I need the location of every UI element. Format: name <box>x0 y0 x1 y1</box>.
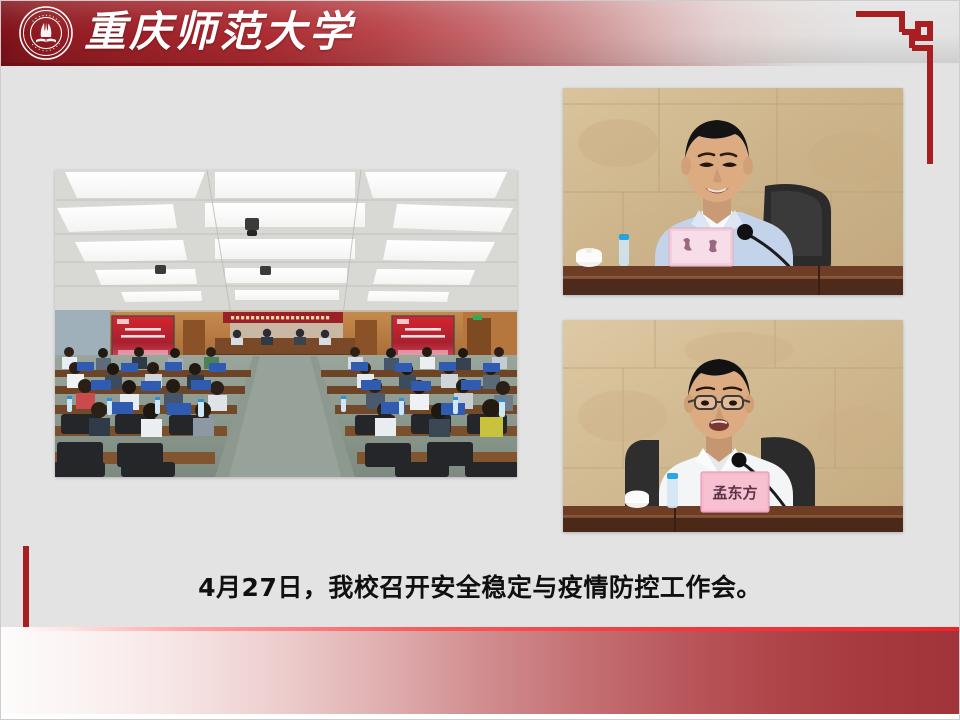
nameplate-text-bottom: 孟东方 <box>712 484 757 502</box>
slide-caption: 4月27日，我校召开安全稳定与疫情防控工作会。 <box>0 568 960 604</box>
presentation-slide: 重庆师范大学 <box>0 0 960 720</box>
speaker-photo-top <box>563 88 903 295</box>
university-seal-icon <box>19 6 73 60</box>
speaker-photo-bottom: 孟东方 <box>563 320 903 532</box>
bottom-edge-strip <box>0 714 960 720</box>
conference-hall-photo <box>55 170 517 477</box>
university-name-wordmark: 重庆师范大学 <box>84 2 334 62</box>
header-baseline-rule <box>0 63 960 66</box>
bottom-gradient-band <box>0 631 960 714</box>
